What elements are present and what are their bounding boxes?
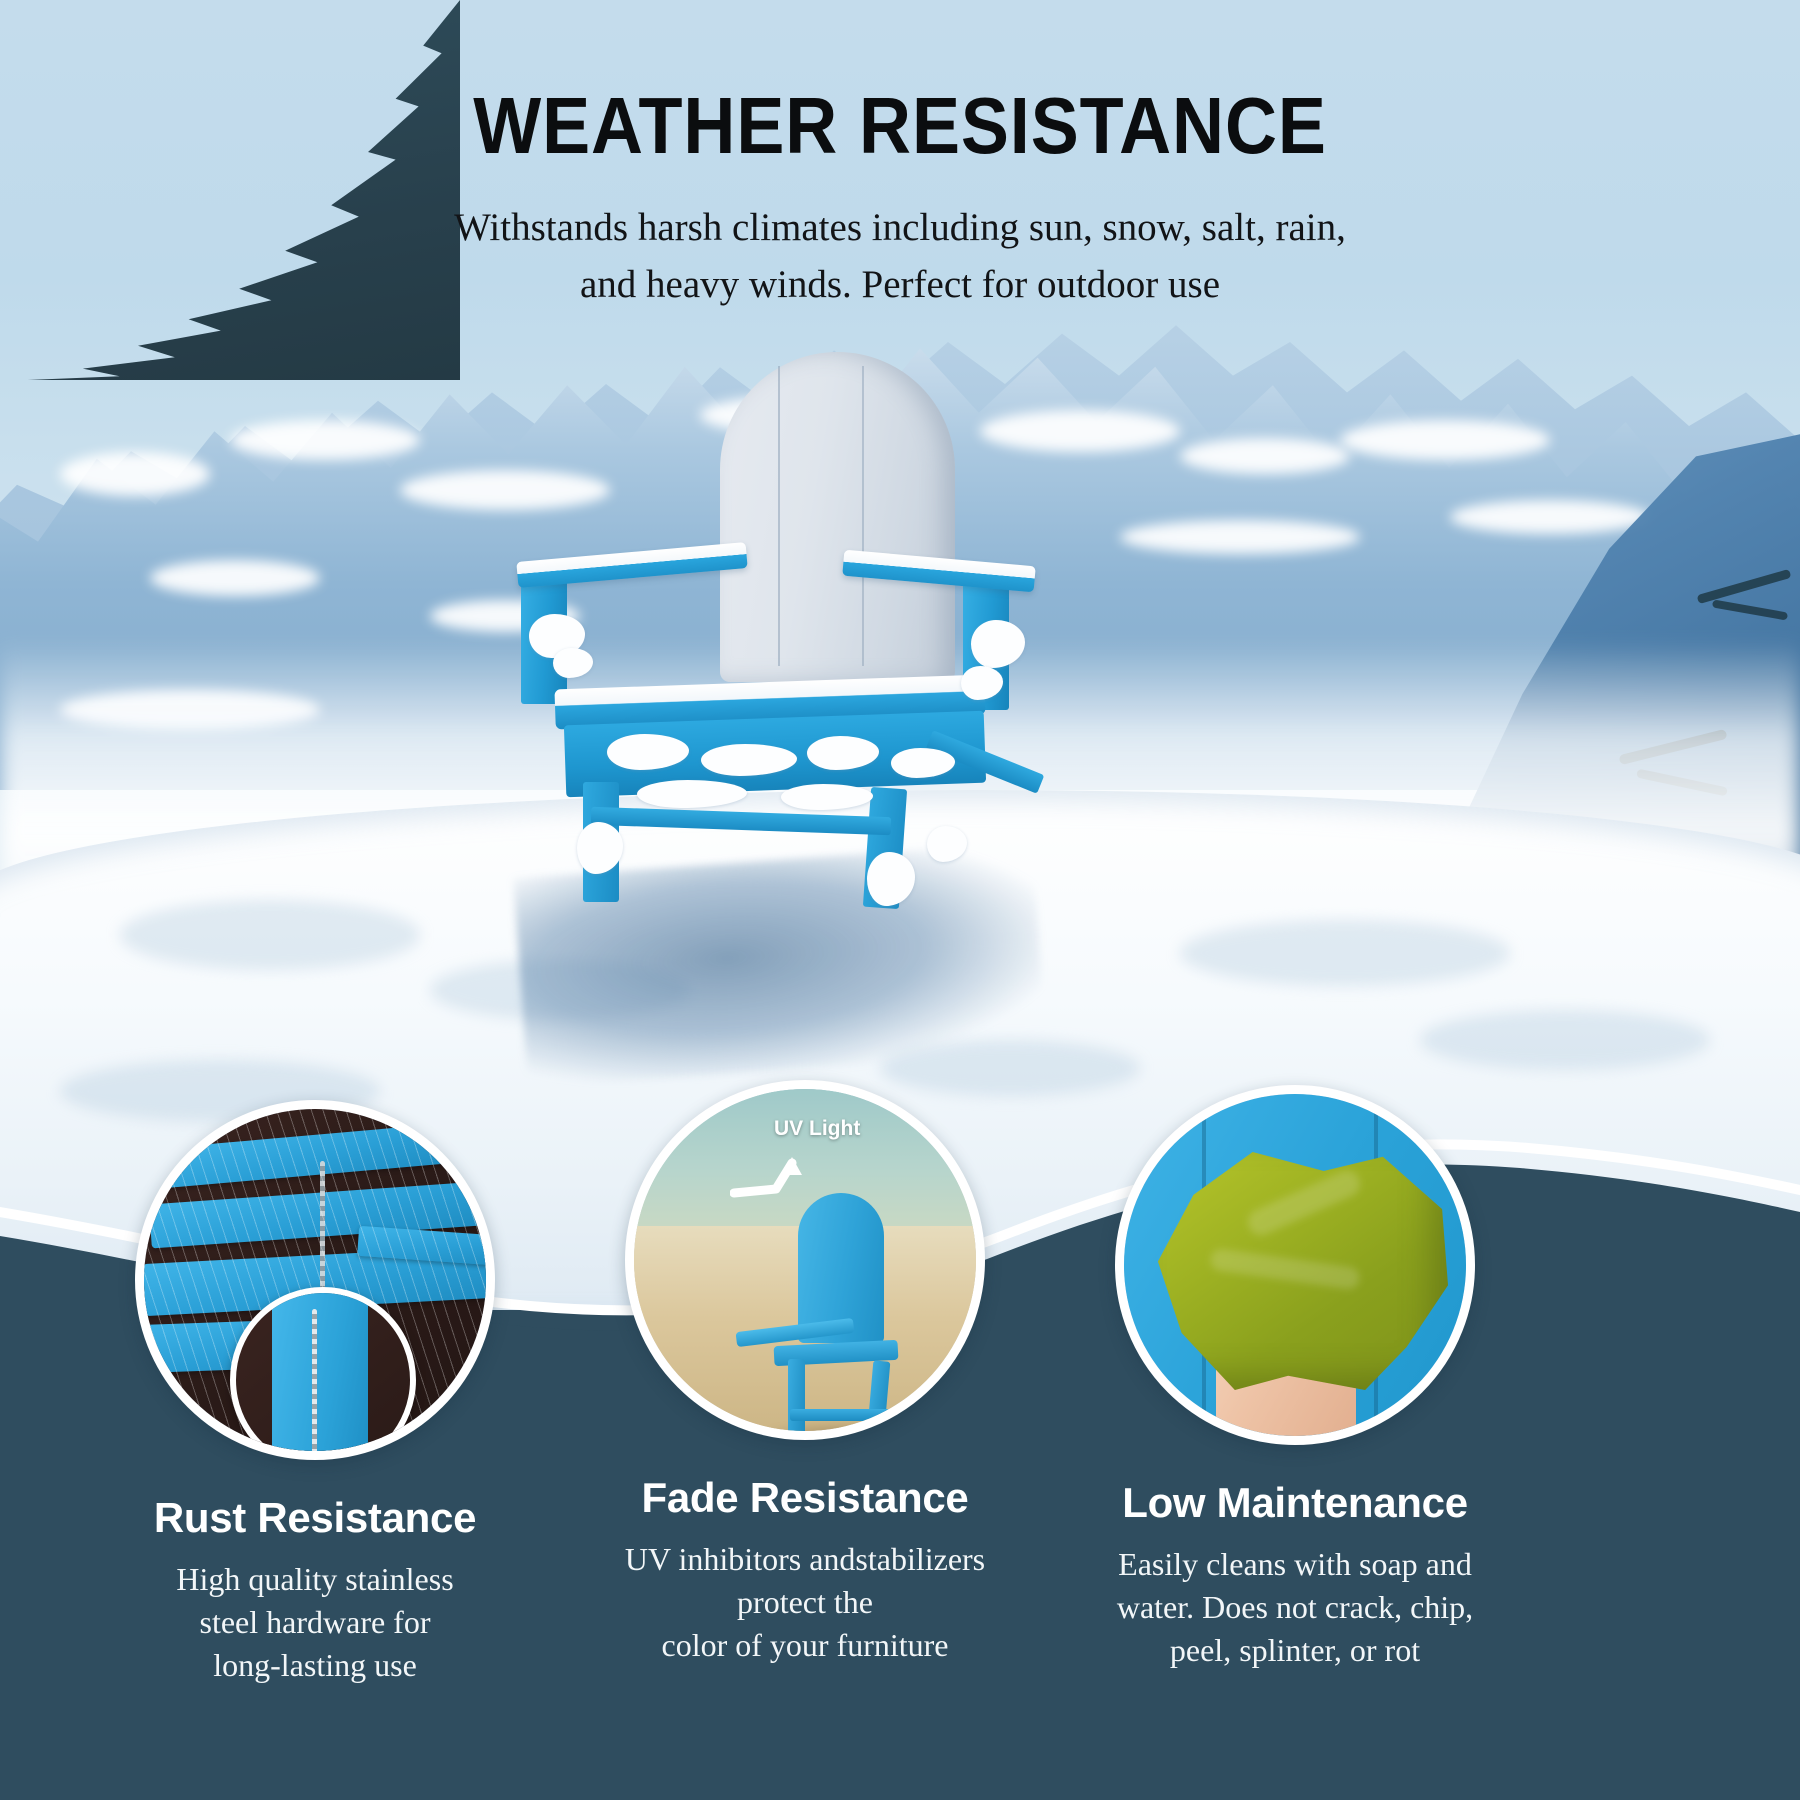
- beach-chair: [730, 1193, 930, 1440]
- desc-line: protect the: [595, 1581, 1015, 1624]
- clean-photo: [1124, 1094, 1466, 1436]
- desc-line: long-lasting use: [105, 1644, 525, 1687]
- desc-line: Easily cleans with soap and: [1085, 1543, 1505, 1586]
- uv-light-label: UV Light: [774, 1117, 860, 1141]
- fade-photo: UV Light: [634, 1089, 976, 1431]
- feature-title-fade-resistance: Fade Resistance: [595, 1474, 1015, 1522]
- uv-arrow-icon: [730, 1149, 830, 1215]
- feature-card-fade-resistance: UV Light Fade Resistance UV inhibitors a…: [595, 1080, 1015, 1668]
- inset-closeup-chain: [230, 1287, 416, 1460]
- desc-line: color of your furniture: [595, 1624, 1015, 1667]
- feature-desc-low-maintenance: Easily cleans with soap and water. Does …: [1085, 1543, 1505, 1673]
- chair-panel: [272, 1293, 368, 1460]
- desc-line: steel hardware for: [105, 1601, 525, 1644]
- stainless-chain-closeup: [312, 1309, 317, 1459]
- desc-line: water. Does not crack, chip,: [1085, 1586, 1505, 1629]
- feature-image-low-maintenance: [1115, 1085, 1475, 1445]
- chair-leg-front: [788, 1359, 805, 1440]
- feature-card-rust-resistance: Rust Resistance High quality stainless s…: [105, 1100, 525, 1688]
- desc-line: High quality stainless: [105, 1558, 525, 1601]
- feature-image-fade-resistance: UV Light: [625, 1080, 985, 1440]
- feature-title-rust-resistance: Rust Resistance: [105, 1494, 525, 1542]
- feature-title-low-maintenance: Low Maintenance: [1085, 1479, 1505, 1527]
- feature-desc-fade-resistance: UV inhibitors andstabilizers protect the…: [595, 1538, 1015, 1668]
- feature-image-rust-resistance: [135, 1100, 495, 1460]
- feature-desc-rust-resistance: High quality stainless steel hardware fo…: [105, 1558, 525, 1688]
- feature-row: Rust Resistance High quality stainless s…: [0, 0, 1800, 1800]
- weather-resistance-infographic: WEATHER RESISTANCE Withstands harsh clim…: [0, 0, 1800, 1800]
- chair-stretcher: [790, 1409, 890, 1421]
- desc-line: UV inhibitors andstabilizers: [595, 1538, 1015, 1581]
- desc-line: peel, splinter, or rot: [1085, 1629, 1505, 1672]
- feature-card-low-maintenance: Low Maintenance Easily cleans with soap …: [1085, 1085, 1505, 1673]
